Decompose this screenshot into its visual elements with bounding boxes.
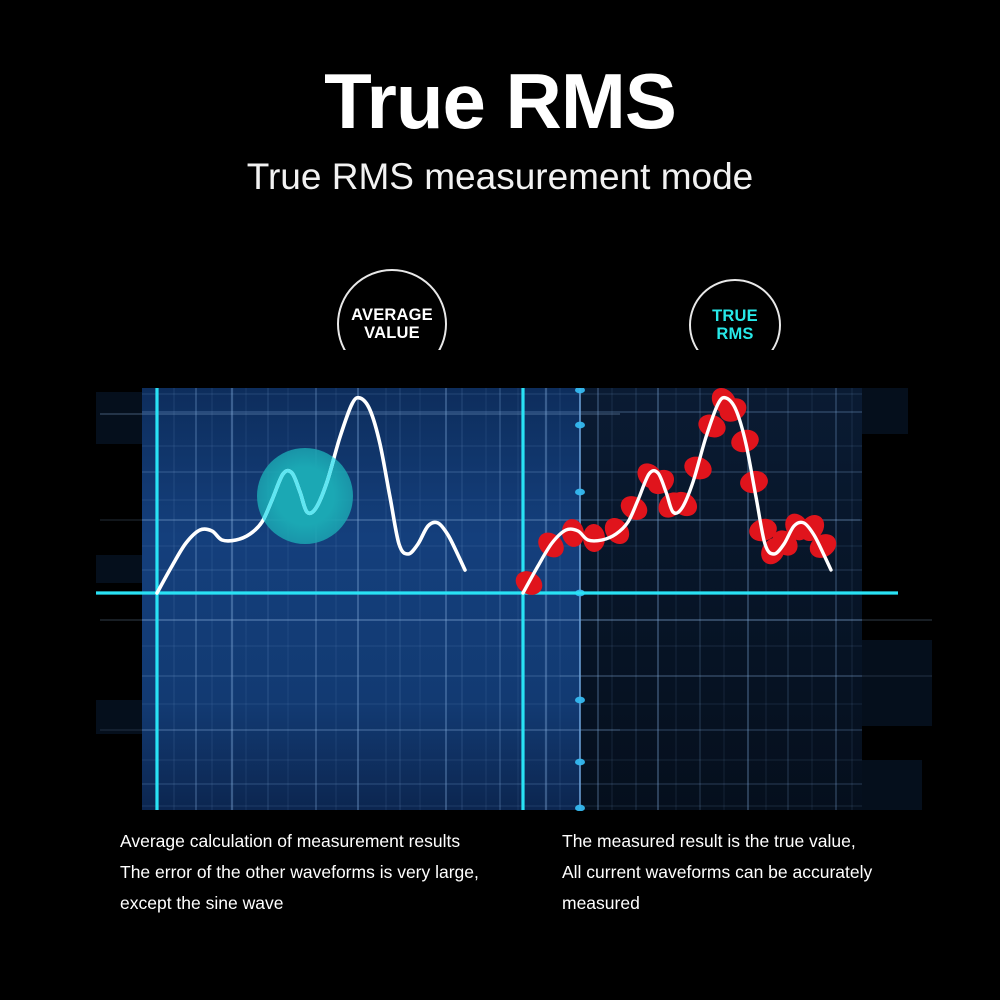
scope-edge-block-2 [96,700,142,734]
scope-canvas [0,350,1000,850]
oscilloscope-panel [0,350,1000,850]
scope-split-tick-1 [575,422,585,429]
average-value-highlight-circle [257,448,353,544]
true-rms-badge-line2: RMS [716,325,753,343]
caption-true-rms-line-2: All current waveforms can be accurately [562,857,872,888]
scope-edge-block-4 [862,640,932,726]
scope-top-mask [0,350,1000,388]
caption-average-line-2: The error of the other waveforms is very… [120,857,479,888]
scope-split-tick-4 [575,697,585,704]
scope-split-tick-2 [575,489,585,496]
caption-true-rms: The measured result is the true value, A… [562,826,872,919]
caption-true-rms-line-3: measured [562,888,872,919]
scope-left-mask [0,350,96,850]
scope-edge-block-1 [96,555,142,583]
scope-split-tick-6 [575,805,585,812]
scope-dark-region [580,388,862,810]
scope-edge-block-5 [862,760,922,810]
caption-true-rms-line-1: The measured result is the true value, [562,826,872,857]
caption-average-line-3: except the sine wave [120,888,479,919]
scope-bright-region [142,388,580,810]
caption-average-value: Average calculation of measurement resul… [120,826,479,919]
page-title: True RMS [0,62,1000,140]
caption-average-line-1: Average calculation of measurement resul… [120,826,479,857]
true-rms-badge-line1: TRUE [712,307,758,325]
average-value-badge-line1: AVERAGE [351,306,433,324]
scope-edge-block-3 [862,388,908,434]
scope-edge-block-0 [96,392,142,444]
scope-split-tick-5 [575,759,585,766]
scope-right-mask [932,350,1000,850]
page-subtitle: True RMS measurement mode [0,158,1000,195]
slide-root: True RMS True RMS measurement mode AVERA… [0,0,1000,1000]
average-value-badge-line2: VALUE [364,324,420,342]
